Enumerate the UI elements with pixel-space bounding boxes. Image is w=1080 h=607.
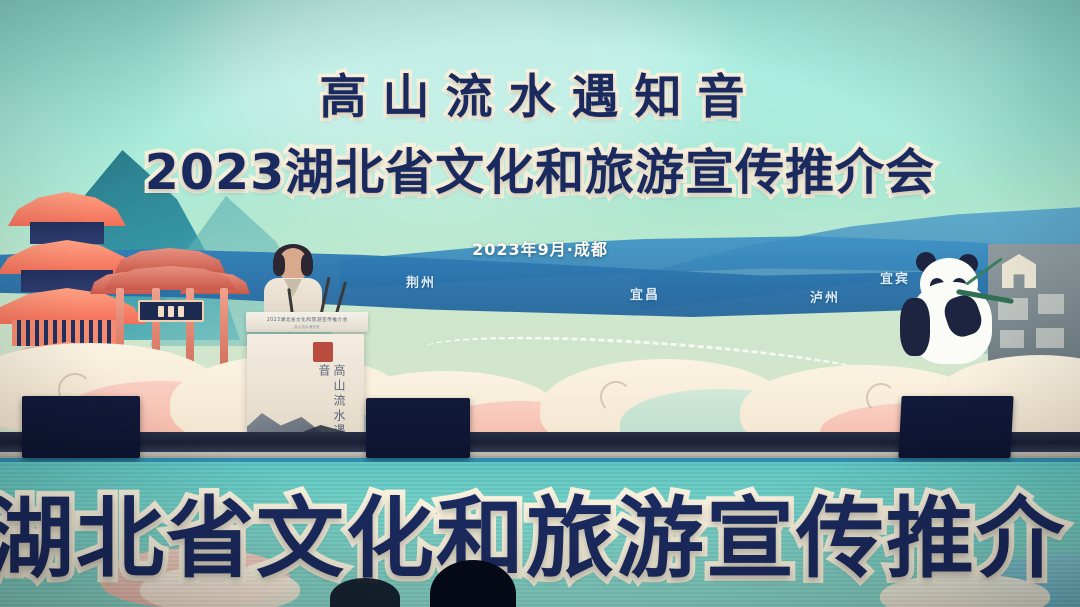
conference-stage-photo: 荆州 宜昌 泸州 宜宾 [0,0,1080,607]
podium-nameplate: 2023湖北省文化和旅游宣传推介会 高山流水遇知音 [246,312,368,332]
stage-monitor-right [898,396,1013,458]
led-backdrop: 荆州 宜昌 泸州 宜宾 [0,0,1080,455]
page-title: 高山流水遇知音 [0,58,1080,127]
podium-nameplate-line1: 2023湖北省文化和旅游宣传推介会 [266,316,347,323]
page-subtitle: 2023湖北省文化和旅游宣传推介会 [0,133,1080,204]
podium-nameplate-line2: 高山流水遇知音 [294,324,320,329]
city-label-jingzhou: 荆州 [406,272,436,291]
stage-monitor-left [22,396,140,458]
arch-plaque [138,300,204,322]
city-label-yichang: 宜昌 [630,284,660,303]
stage-monitor-center [366,398,470,458]
event-date-location: 2023年9月·成都 [0,236,1080,260]
banner-title: 湖北省文化和旅游宣传推介 [0,468,1080,595]
city-label-luzhou: 泸州 [810,287,840,306]
red-seal-icon [313,342,333,362]
